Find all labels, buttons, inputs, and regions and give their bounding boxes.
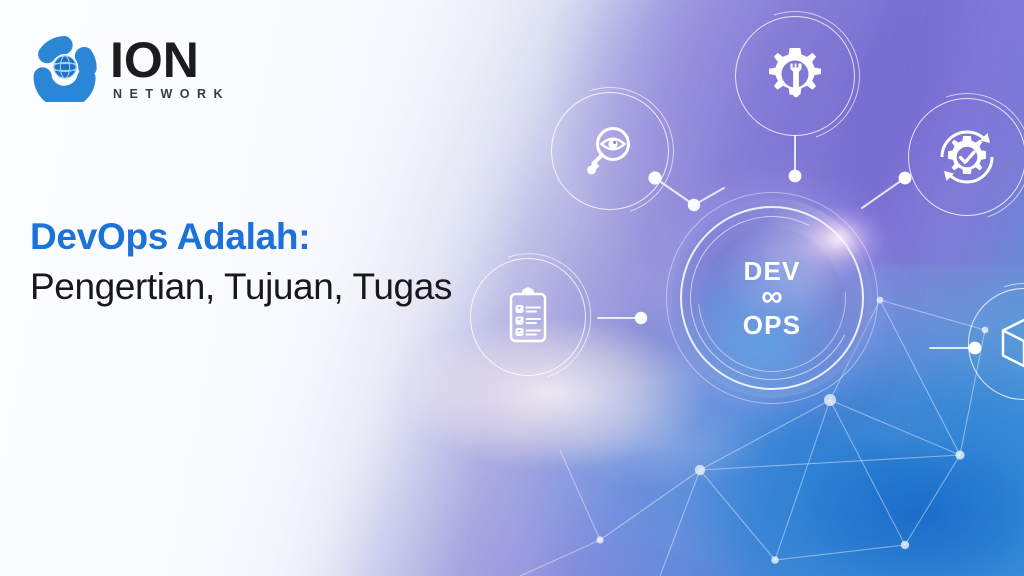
- clipboard-checklist-icon: [470, 258, 586, 376]
- cube-box-icon: [968, 288, 1024, 400]
- devops-sphere[interactable]: DEV ∞ OPS: [672, 198, 872, 398]
- brand-logo[interactable]: ION NETWORK: [30, 32, 230, 102]
- ion-globe-arcs-icon: [30, 32, 100, 102]
- brand-wordmark: ION NETWORK: [110, 33, 230, 101]
- gear-wrench-icon: [735, 16, 855, 136]
- magnifier-eye-icon: [551, 92, 669, 210]
- node-build[interactable]: [735, 16, 855, 136]
- gear-check-cycle-icon: [908, 98, 1024, 216]
- node-monitoring[interactable]: [551, 92, 669, 210]
- sphere-core: DEV ∞ OPS: [702, 228, 842, 368]
- brand-name: ION: [110, 37, 230, 83]
- brand-tagline: NETWORK: [113, 88, 230, 101]
- title-subline: Pengertian, Tujuan, Tugas: [30, 263, 460, 311]
- node-automation[interactable]: [908, 98, 1024, 216]
- ops-label: OPS: [743, 311, 802, 339]
- node-deployment[interactable]: [968, 288, 1024, 400]
- infinity-icon: ∞: [761, 286, 782, 308]
- node-planning[interactable]: [470, 258, 586, 376]
- title-accent-line: DevOps Adalah:: [30, 214, 460, 261]
- page-title: DevOps Adalah: Pengertian, Tujuan, Tugas: [30, 214, 460, 311]
- hero-banner: DEV ∞ OPS: [0, 0, 1024, 576]
